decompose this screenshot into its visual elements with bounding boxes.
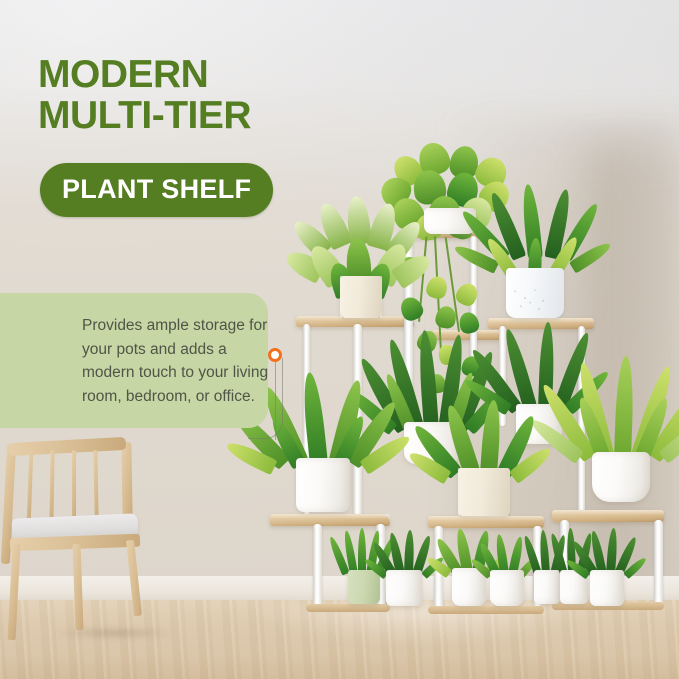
feature-marker-icon bbox=[268, 348, 282, 362]
plant-pot bbox=[506, 268, 564, 318]
plant-pot bbox=[296, 458, 350, 512]
shelf-board bbox=[270, 514, 390, 526]
plant-pot bbox=[490, 570, 524, 606]
shelf-board bbox=[428, 516, 544, 528]
plant-pot bbox=[386, 570, 422, 606]
plant-pot bbox=[348, 570, 380, 604]
shelf-board bbox=[552, 510, 664, 522]
headline-line-2: MULTI-TIER bbox=[38, 95, 358, 136]
plant-pot bbox=[534, 570, 560, 604]
plant-pot bbox=[340, 276, 382, 318]
callout-leader-line bbox=[248, 358, 283, 439]
shelf-foot bbox=[306, 604, 390, 612]
plant-pot bbox=[592, 452, 650, 502]
callout-stem-line bbox=[275, 362, 276, 440]
shelf-foot bbox=[428, 606, 544, 614]
product-name-badge: PLANT SHELF bbox=[40, 163, 273, 217]
headline-line-1: MODERN bbox=[38, 54, 358, 95]
plant-pot bbox=[458, 468, 510, 516]
plant-pot bbox=[590, 570, 624, 606]
shelf-leg bbox=[654, 520, 663, 606]
page-title: MODERN MULTI-TIER bbox=[38, 54, 358, 136]
shelf-leg bbox=[313, 524, 322, 610]
product-marketing-image: MODERN MULTI-TIER PLANT SHELF Provides a… bbox=[0, 0, 679, 679]
